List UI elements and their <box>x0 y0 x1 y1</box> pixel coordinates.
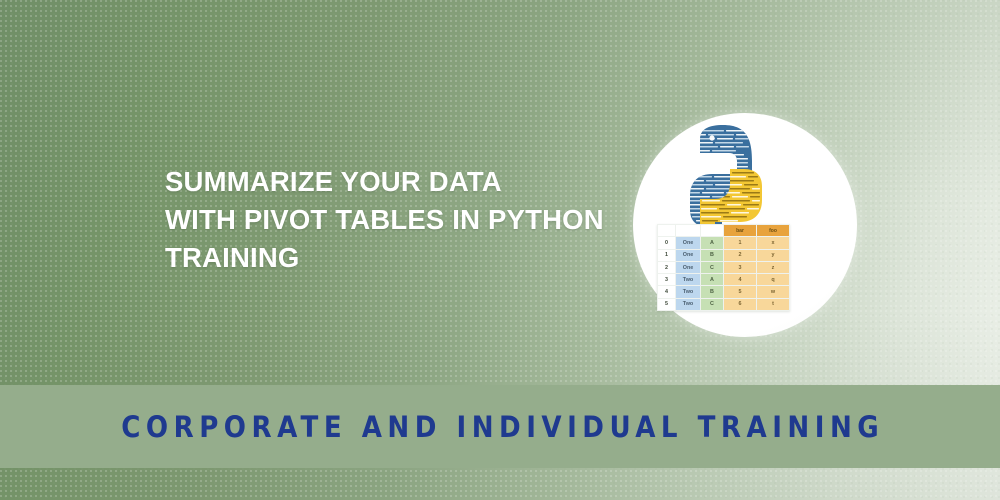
promo-banner-image: SUMMARIZE YOUR DATA WITH PIVOT TABLES IN… <box>0 0 1000 500</box>
cell-index: 2 <box>658 261 676 273</box>
table-row: 1 One B 2 y <box>658 249 790 261</box>
table-header-foo: foo <box>757 225 790 237</box>
cell-col2: B <box>701 286 724 298</box>
cell-index: 1 <box>658 249 676 261</box>
cell-foo: t <box>757 298 790 310</box>
title-line-2: WITH PIVOT TABLES IN PYTHON <box>165 201 685 239</box>
cell-foo: q <box>757 274 790 286</box>
table-header-col2 <box>701 225 724 237</box>
cell-col1: Two <box>676 286 701 298</box>
table-header-bar: bar <box>724 225 757 237</box>
cell-bar: 2 <box>724 249 757 261</box>
cell-col2: B <box>701 249 724 261</box>
table-row: 0 One A 1 x <box>658 237 790 249</box>
cell-col1: One <box>676 261 701 273</box>
cell-col2: C <box>701 298 724 310</box>
cell-col1: Two <box>676 298 701 310</box>
cell-foo: z <box>757 261 790 273</box>
cell-col2: C <box>701 261 724 273</box>
bottom-banner-text: CORPORATE AND INDIVIDUAL TRAINING <box>0 385 1000 468</box>
cell-col2: A <box>701 237 724 249</box>
table-header-row: bar foo <box>658 225 790 237</box>
cell-col1: Two <box>676 274 701 286</box>
page-title: SUMMARIZE YOUR DATA WITH PIVOT TABLES IN… <box>165 163 685 277</box>
table-row: 5 Two C 6 t <box>658 298 790 310</box>
cell-index: 3 <box>658 274 676 286</box>
cell-bar: 6 <box>724 298 757 310</box>
cell-bar: 3 <box>724 261 757 273</box>
cell-col1: One <box>676 237 701 249</box>
title-line-3: TRAINING <box>165 239 685 277</box>
cell-index: 4 <box>658 286 676 298</box>
cell-bar: 4 <box>724 274 757 286</box>
table-row: 2 One C 3 z <box>658 261 790 273</box>
cell-bar: 1 <box>724 237 757 249</box>
cell-col2: A <box>701 274 724 286</box>
table-row: 3 Two A 4 q <box>658 274 790 286</box>
cell-index: 0 <box>658 237 676 249</box>
table-header-index <box>658 225 676 237</box>
table-header-col1 <box>676 225 701 237</box>
cell-col1: One <box>676 249 701 261</box>
cell-foo: x <box>757 237 790 249</box>
dataframe-table: bar foo 0 One A 1 x 1 One B 2 y 2 One <box>657 224 790 311</box>
cell-foo: w <box>757 286 790 298</box>
cell-index: 5 <box>658 298 676 310</box>
cell-bar: 5 <box>724 286 757 298</box>
table-row: 4 Two B 5 w <box>658 286 790 298</box>
cell-foo: y <box>757 249 790 261</box>
title-line-1: SUMMARIZE YOUR DATA <box>165 163 685 201</box>
